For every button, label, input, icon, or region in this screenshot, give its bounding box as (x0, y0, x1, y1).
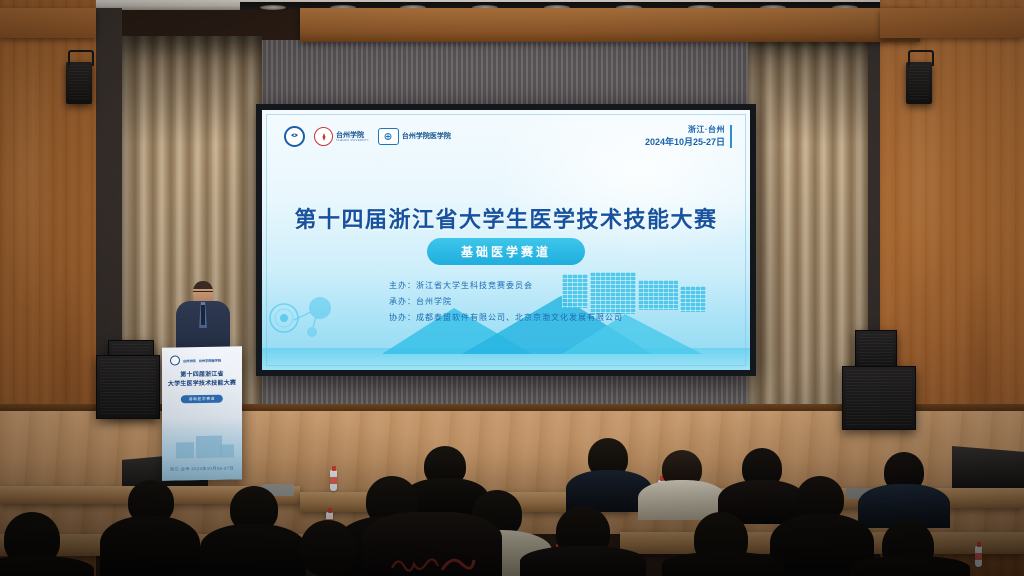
water-bottle (330, 470, 337, 491)
wall-speaker-left (66, 62, 92, 104)
ceiling-beam-center (300, 8, 920, 42)
location-text: 浙江·台州 (645, 125, 725, 136)
screen-building-graphic (680, 286, 706, 312)
audience-shoulders (200, 524, 306, 576)
podium-track-badge: 基础医学赛道 (181, 395, 223, 404)
medical-college-badge-icon (378, 128, 399, 145)
logo-text: 台州学院 (336, 132, 369, 139)
ceiling-beam-right (880, 8, 1024, 38)
podium-emblem-icon (170, 355, 180, 365)
podium-title: 第十四届浙江省 大学生医学技术技能大赛 (162, 370, 242, 389)
podium-logo-text2: 台州学院医学院 (199, 357, 221, 362)
audience-shoulders (662, 552, 784, 576)
audience-shoulders (850, 556, 970, 576)
conference-hall-photo: 台州学院 TAIZHOU UNIVERSITY 台州学院医学院 浙江·台州 20… (0, 0, 1024, 576)
screen-main-title: 第十四届浙江省大学生医学技术技能大赛 (262, 202, 750, 234)
podium-lectern: 台州学院 台州学院医学院 第十四届浙江省 大学生医学技术技能大赛 基础医学赛道 … (162, 346, 242, 480)
emblem-logo (284, 126, 305, 147)
wall-speaker-right (906, 62, 932, 104)
presenter-tie (201, 305, 205, 325)
screen-logo-row: 台州学院 TAIZHOU UNIVERSITY 台州学院医学院 (284, 126, 451, 147)
stage-speaker-right-bottom (842, 366, 916, 430)
molecule-graphic (268, 292, 358, 344)
taizhou-university-logo: 台州学院 TAIZHOU UNIVERSITY (314, 127, 369, 146)
screen-date-location: 浙江·台州 2024年10月25-27日 (645, 125, 732, 148)
projection-screen-frame: 台州学院 TAIZHOU UNIVERSITY 台州学院医学院 浙江·台州 20… (256, 104, 756, 376)
water-bottle (975, 546, 982, 567)
screen-track-badge: 基础医学赛道 (427, 238, 585, 265)
ceiling-beam-left (0, 8, 96, 38)
university-badge-icon (314, 127, 333, 146)
organizer-line: 协办：成都泰盟软件有限公司、北京京渤文化发展有限公司 (389, 310, 623, 326)
screen-building-graphic (638, 280, 678, 310)
floor-monitor-right (952, 446, 1024, 488)
podium-title-line2: 大学生医学技术技能大赛 (162, 379, 242, 389)
podium-logo-row: 台州学院 台州学院医学院 (170, 354, 236, 365)
glasses-icon (193, 291, 213, 296)
logo-subtext: TAIZHOU UNIVERSITY (336, 139, 369, 142)
podium-logo-text: 台州学院 (183, 358, 196, 363)
presenter-person (176, 281, 230, 351)
organizer-line: 承办：台州学院 (389, 294, 623, 310)
screen-organizer-list: 主办：浙江省大学生科技竞赛委员会 承办：台州学院 协办：成都泰盟软件有限公司、北… (389, 278, 623, 326)
audience-shoulders (100, 516, 200, 576)
jacket-script-graphic (388, 548, 478, 576)
taizhou-medical-college-logo: 台州学院医学院 (378, 128, 451, 145)
audience-shoulders (520, 546, 646, 576)
logo-text: 台州学院医学院 (402, 133, 451, 140)
organizer-line: 主办：浙江省大学生科技竞赛委员会 (389, 278, 623, 294)
date-range-text: 2024年10月25-27日 (645, 136, 725, 148)
projection-screen: 台州学院 TAIZHOU UNIVERSITY 台州学院医学院 浙江·台州 20… (262, 110, 750, 370)
audience-head (300, 520, 356, 576)
stage-speaker-left-bottom (96, 355, 160, 419)
